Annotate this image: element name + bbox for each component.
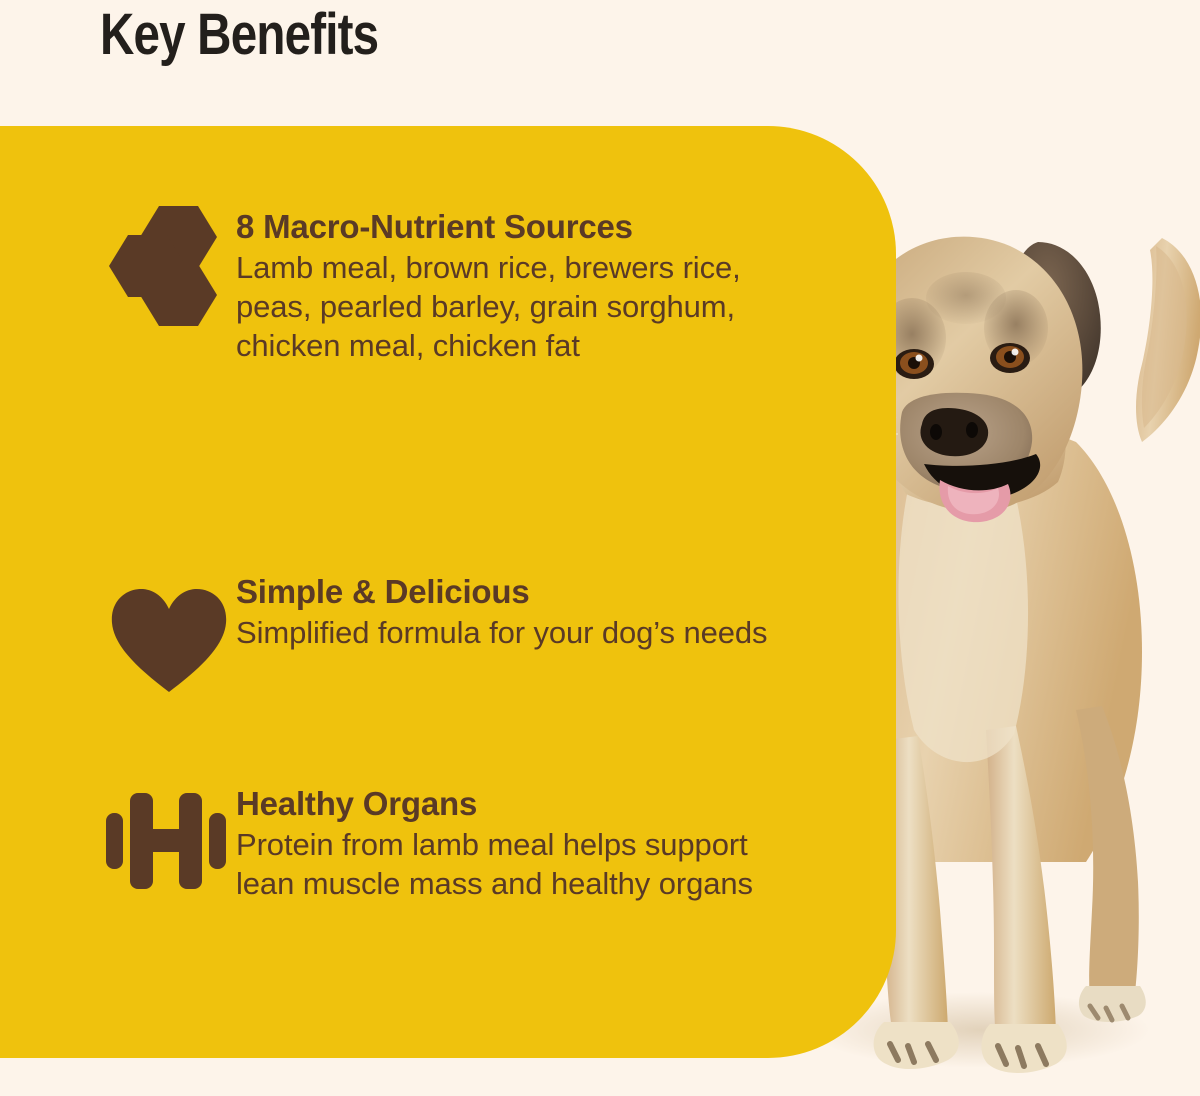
benefit-text-block: Simple & Delicious Simplified formula fo… [236,569,796,652]
page-title: Key Benefits [100,4,378,66]
benefit-heading: Simple & Delicious [236,571,796,612]
heart-icon [104,569,236,687]
honeycomb-icon [104,204,236,322]
benefit-text-block: 8 Macro-Nutrient Sources Lamb meal, brow… [236,204,796,365]
benefit-heading: 8 Macro-Nutrient Sources [236,206,796,247]
benefit-description: Lamb meal, brown rice, brewers rice, pea… [236,248,796,365]
benefit-description: Protein from lamb meal helps support lea… [236,825,796,903]
dumbbell-icon [104,781,236,899]
benefit-item-healthy-organs: Healthy Organs Protein from lamb meal he… [104,781,796,903]
benefit-item-simple-and-delicious: Simple & Delicious Simplified formula fo… [104,569,796,687]
key-benefits-panel: Key Benefits [0,0,1200,1096]
benefit-heading: Healthy Organs [236,783,796,824]
benefit-description: Simplified formula for your dog’s needs [236,613,796,652]
benefit-text-block: Healthy Organs Protein from lamb meal he… [236,781,796,903]
benefits-card: 8 Macro-Nutrient Sources Lamb meal, brow… [0,126,896,1058]
benefit-item-macro-nutrient-sources: 8 Macro-Nutrient Sources Lamb meal, brow… [104,204,796,365]
